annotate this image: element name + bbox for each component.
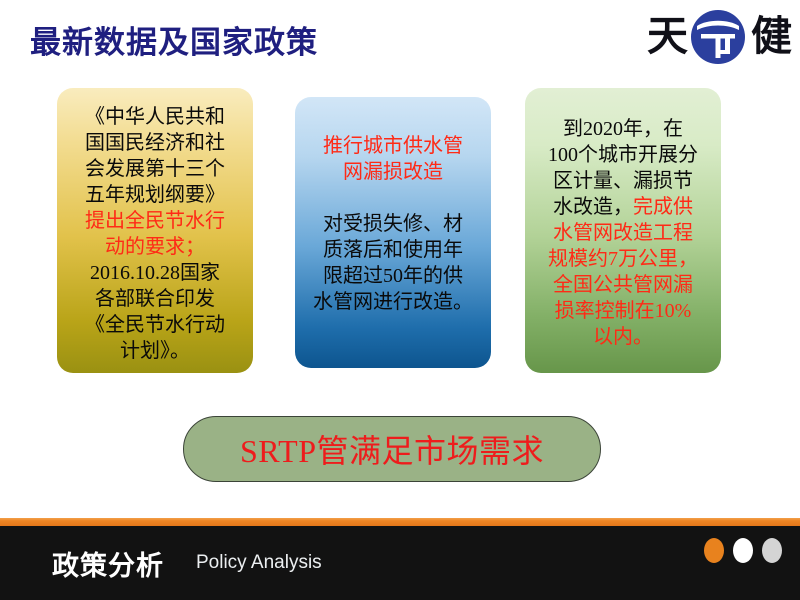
- card2-line-2: 网漏损改造: [301, 159, 485, 185]
- card2-line-4: 质落后和使用年: [301, 237, 485, 263]
- logo-emblem-icon: [689, 8, 747, 66]
- card3-line-8: 损率控制在10%: [531, 298, 715, 324]
- footer-dots: [704, 538, 782, 563]
- card3-line-1: 到2020年，在: [531, 116, 715, 142]
- card1-line-5: 提出全民节水行: [63, 208, 247, 234]
- conclusion-text: SRTP管满足市场需求: [240, 426, 544, 472]
- policy-card-five-year-plan: 《中华人民共和 国国民经济和社 会发展第十三个 五年规划纲要》 提出全民节水行 …: [57, 88, 253, 373]
- card3-line-4: 水改造，完成供: [531, 194, 715, 220]
- policy-card-2020-target: 到2020年，在 100个城市开展分 区计量、漏损节 水改造，完成供 水管网改造…: [525, 88, 721, 373]
- card1-line-4: 五年规划纲要》: [63, 182, 247, 208]
- footer-dot-3[interactable]: [762, 538, 782, 563]
- footer-dot-active[interactable]: [704, 538, 724, 563]
- footer-dot-2[interactable]: [733, 538, 753, 563]
- card3-line-2: 100个城市开展分: [531, 142, 715, 168]
- card3-line-9: 以内。: [531, 324, 715, 350]
- card1-line-3: 会发展第十三个: [63, 156, 247, 182]
- card3-line-3: 区计量、漏损节: [531, 168, 715, 194]
- conclusion-banner: SRTP管满足市场需求: [183, 416, 601, 482]
- page-title: 最新数据及国家政策: [30, 17, 318, 62]
- footer-section-title-en: Policy Analysis: [196, 552, 322, 574]
- card1-line-9: 《全民节水行动: [63, 312, 247, 338]
- card3-line-7: 全国公共管网漏: [531, 272, 715, 298]
- brand-logo: 天 健: [647, 6, 792, 68]
- card1-line-8: 各部联合印发: [63, 286, 247, 312]
- card3-line-4-red: 完成供: [633, 196, 693, 218]
- logo-glyph-tian: 天: [647, 16, 688, 57]
- slide-canvas: 最新数据及国家政策 天 健 《中华人民共和 国国民经济和社 会发展第十三个 五年…: [0, 0, 800, 600]
- policy-card-pipe-leakage: 推行城市供水管 网漏损改造 对受损失修、材 质落后和使用年 限超过50年的供 水…: [295, 97, 491, 368]
- footer-section-title-cn: 政策分析: [52, 544, 164, 583]
- card1-line-6: 动的要求；: [63, 234, 247, 260]
- card1-line-1: 《中华人民共和: [63, 104, 247, 130]
- card2-line-1: 推行城市供水管: [301, 133, 485, 159]
- card1-line-2: 国国民经济和社: [63, 130, 247, 156]
- card3-line-5: 水管网改造工程: [531, 220, 715, 246]
- card2-line-6: 水管网进行改造。: [301, 289, 485, 315]
- logo-glyph-jian: 健: [751, 16, 792, 57]
- card3-line-4-black: 水改造，: [553, 196, 633, 218]
- card1-line-7: 2016.10.28国家: [63, 260, 247, 286]
- footer-accent-bar: [0, 518, 800, 526]
- card3-line-6: 规模约7万公里，: [531, 246, 715, 272]
- card1-line-10: 计划》。: [63, 338, 247, 364]
- card2-line-5: 限超过50年的供: [301, 263, 485, 289]
- card2-line-gap: [301, 185, 485, 211]
- card2-line-3: 对受损失修、材: [301, 211, 485, 237]
